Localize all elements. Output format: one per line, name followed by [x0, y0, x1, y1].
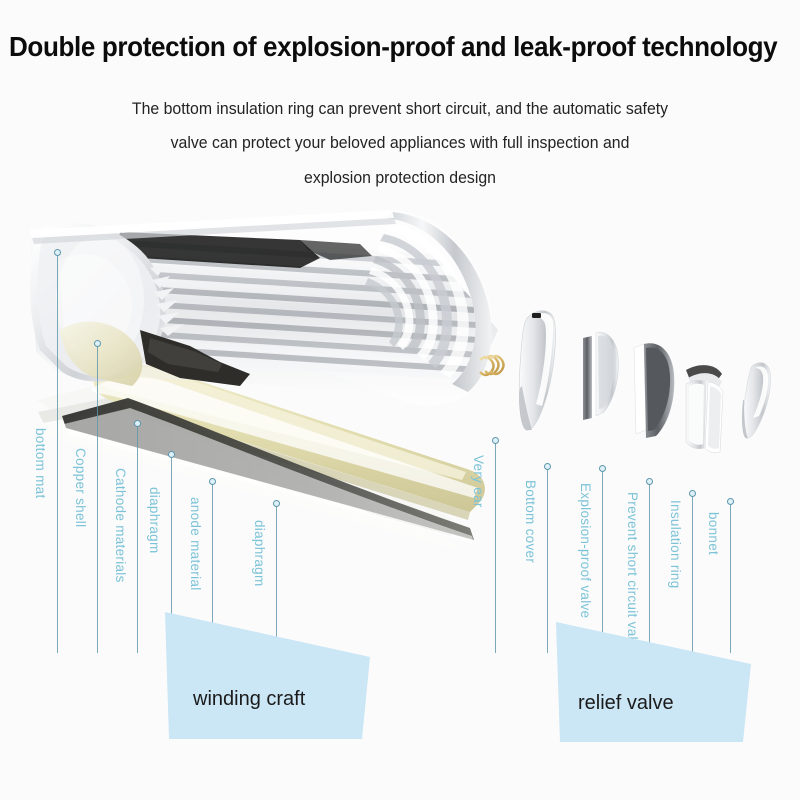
subtitle-line-2: valve can protect your beloved appliance…: [54, 126, 745, 160]
banner-shape: [165, 606, 370, 739]
leader-dot: [94, 340, 101, 347]
part-bonnet: [742, 363, 771, 439]
leader-dot: [727, 498, 734, 505]
leader-dot: [646, 478, 653, 485]
leader-dot: [599, 465, 606, 472]
callout-label: Very ear: [471, 455, 486, 508]
subtitle-line-3: explosion protection design: [54, 161, 745, 195]
callout-label: diaphragm: [147, 487, 162, 554]
part-insulation-ring: [686, 365, 723, 453]
callout-label: Explosion-proof valve: [578, 483, 593, 618]
leader-line: [547, 466, 548, 653]
callout-label: diaphragm: [252, 520, 267, 587]
banner-winding-craft: winding craft: [165, 606, 370, 739]
part-bottom-cover: [519, 311, 555, 430]
leader-dot: [273, 500, 280, 507]
leader-dot: [689, 490, 696, 497]
leader-line: [137, 423, 138, 653]
callout-label: Insulation ring: [668, 500, 683, 589]
banner-relief-valve: relief valve: [556, 616, 751, 742]
part-explosion-proof-valve: [583, 332, 618, 420]
leader-dot: [134, 420, 141, 427]
leader-dot: [544, 463, 551, 470]
page-title: Double protection of explosion-proof and…: [9, 32, 744, 61]
callout-label: Bottom cover: [523, 480, 538, 563]
leader-line: [495, 440, 496, 653]
banner-label: relief valve: [578, 692, 674, 715]
part-short-circuit-valve: [634, 343, 674, 438]
banner-label: winding craft: [193, 688, 305, 711]
subtitle-line-1: The bottom insulation ring can prevent s…: [54, 92, 745, 126]
infographic-canvas: Double protection of explosion-proof and…: [0, 0, 800, 800]
leader-line: [97, 343, 98, 653]
leader-dot: [168, 451, 175, 458]
callout-label: bottom mat: [33, 428, 48, 499]
callout-label: bonnet: [706, 512, 721, 555]
exploded-parts-group: [519, 311, 770, 453]
banner-shape: [556, 616, 751, 742]
page-subtitle: The bottom insulation ring can prevent s…: [54, 92, 745, 195]
leader-dot: [492, 437, 499, 444]
leader-dot: [54, 249, 61, 256]
leader-dot: [209, 478, 216, 485]
jelly-roll-wound-layers: [30, 210, 498, 406]
callout-label: anode material: [188, 497, 203, 591]
callout-label: Cathode materials: [113, 468, 128, 583]
callout-label: Copper shell: [73, 448, 88, 527]
leader-line: [57, 252, 58, 653]
